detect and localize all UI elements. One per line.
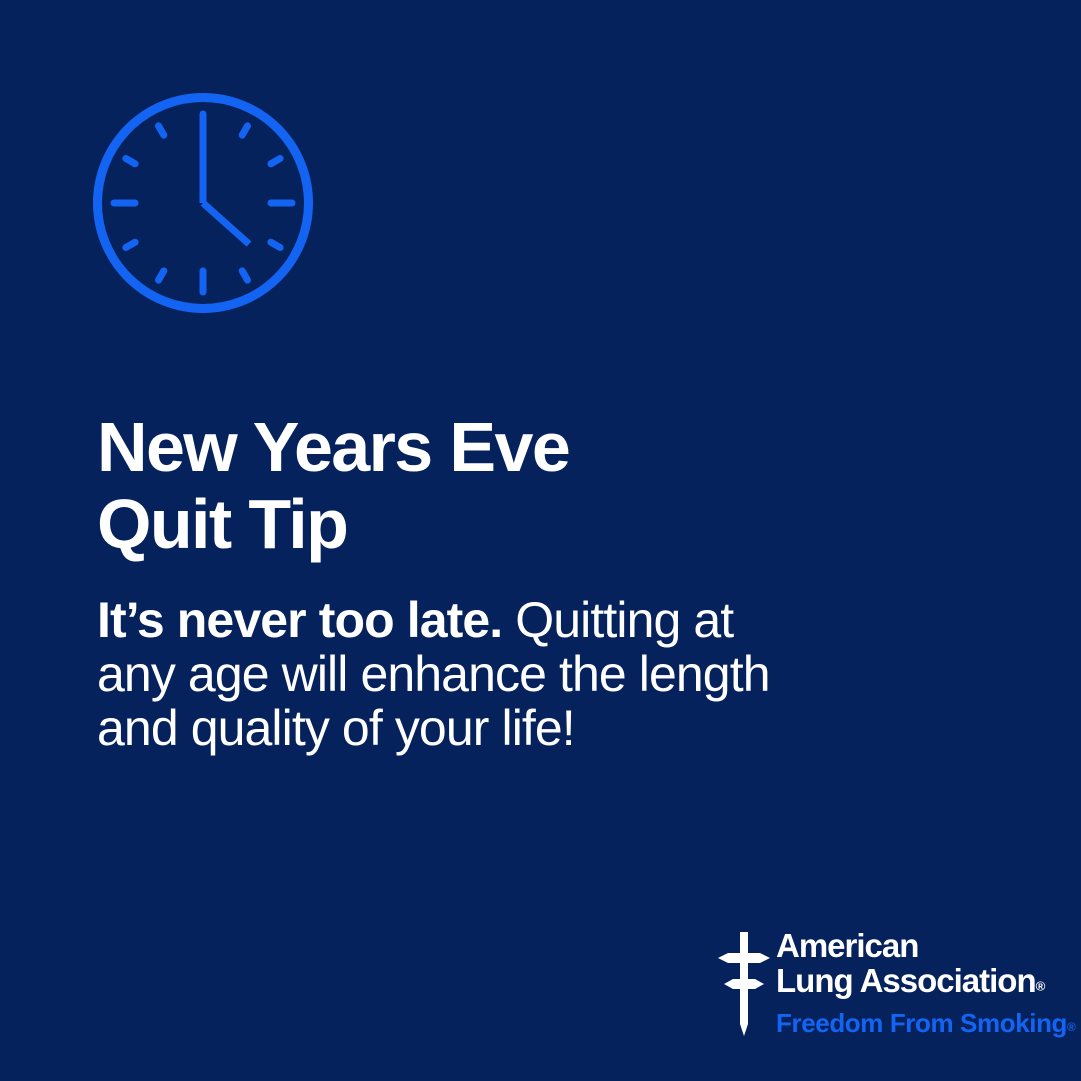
clock-icon bbox=[92, 92, 314, 314]
headline-line-1: New Years Eve bbox=[97, 409, 957, 486]
logo-org-line-2-text: Lung Association bbox=[776, 962, 1036, 999]
logo-tagline-text: Freedom From Smoking bbox=[776, 1008, 1067, 1038]
logo-text-block: American Lung Association® Freedom From … bbox=[776, 928, 1046, 1043]
logo-org-line-1: American bbox=[776, 928, 1046, 963]
headline: New Years Eve Quit Tip bbox=[97, 409, 957, 563]
registered-trademark-icon: ® bbox=[1036, 978, 1046, 993]
logo-tagline: Freedom From Smoking® bbox=[776, 1007, 1046, 1043]
body-copy: It’s never too late. Quitting at any age… bbox=[97, 593, 777, 755]
poster-canvas: New Years Eve Quit Tip It’s never too la… bbox=[0, 0, 1081, 1081]
double-barred-cross-icon bbox=[714, 928, 774, 1036]
american-lung-association-logo: American Lung Association® Freedom From … bbox=[714, 928, 1044, 1038]
logo-org-line-2: Lung Association® bbox=[776, 963, 1046, 1003]
registered-trademark-icon-tagline: ® bbox=[1067, 1020, 1076, 1034]
body-lead-in: It’s never too late. bbox=[97, 592, 502, 648]
headline-line-2: Quit Tip bbox=[97, 486, 957, 563]
